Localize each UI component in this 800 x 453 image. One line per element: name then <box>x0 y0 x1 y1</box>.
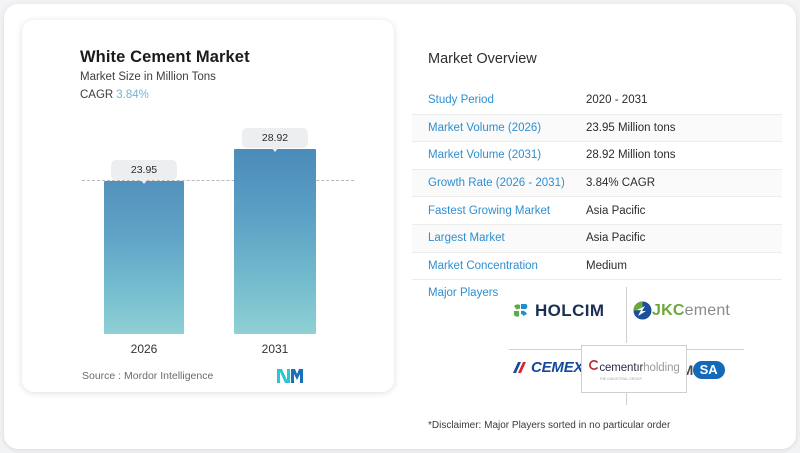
source-text: Source : Mordor Intelligence <box>82 370 213 382</box>
row-label: Growth Rate (2026 - 2031) <box>412 177 586 189</box>
row-label: Market Concentration <box>412 260 586 272</box>
grid-divider-horizontal-left <box>509 349 581 350</box>
grid-divider-vertical-top <box>626 287 627 343</box>
table-row: Market Volume (2031) 28.92 Million tons <box>412 142 782 170</box>
table-row: Fastest Growing Market Asia Pacific <box>412 197 782 225</box>
cementir-holding-logo: cementırholding THE INDUSTRIAL GROUP <box>581 345 687 393</box>
row-label: Largest Market <box>412 232 586 244</box>
cementir-wordmark-part2: holding <box>643 362 679 374</box>
table-row: Market Volume (2026) 23.95 Million tons <box>412 115 782 143</box>
cemex-mark-icon <box>511 361 529 374</box>
row-label: Market Volume (2026) <box>412 122 586 134</box>
row-label: Fastest Growing Market <box>412 205 586 217</box>
players-disclaimer: *Disclaimer: Major Players sorted in no … <box>428 420 670 431</box>
bar-chart-plot: 23.95 28.92 2026 2031 <box>22 20 394 392</box>
holcim-logo: HOLCIM <box>511 301 604 321</box>
mordor-intelligence-logo <box>277 368 303 389</box>
cementir-inner: cementırholding THE INDUSTRIAL GROUP <box>588 358 679 381</box>
table-row: Study Period 2020 - 2031 <box>412 87 782 115</box>
holcim-wordmark: HOLCIM <box>535 301 604 321</box>
cemex-wordmark: CEMEX <box>531 359 583 376</box>
row-label: Study Period <box>412 94 586 106</box>
cementir-subtitle: THE INDUSTRIAL GROUP <box>599 377 679 381</box>
market-overview-heading: Market Overview <box>428 51 537 67</box>
table-row: Growth Rate (2026 - 2031) 3.84% CAGR <box>412 170 782 198</box>
jk-cement-wordmark-part2: ement <box>685 302 730 320</box>
market-overview-table: Study Period 2020 - 2031 Market Volume (… <box>412 87 782 280</box>
row-label: Market Volume (2031) <box>412 149 586 161</box>
table-row: Largest Market Asia Pacific <box>412 225 782 253</box>
row-value: 28.92 Million tons <box>586 149 676 161</box>
jk-cement-wordmark-part1: JKC <box>652 302 685 320</box>
bar-2026 <box>104 181 184 334</box>
bar-value-label-2031: 28.92 <box>242 128 308 148</box>
row-value: 23.95 Million tons <box>586 122 676 134</box>
x-axis-label-2026: 2026 <box>94 342 194 356</box>
main-card: White Cement Market Market Size in Milli… <box>4 4 796 449</box>
row-value: Asia Pacific <box>586 205 645 217</box>
cimsa-wordmark-part2: SA <box>693 361 725 379</box>
holcim-mark-icon <box>511 301 531 321</box>
row-value: Medium <box>586 260 627 272</box>
row-value: 2020 - 2031 <box>586 94 647 106</box>
row-value: Asia Pacific <box>586 232 645 244</box>
cemex-logo: CEMEX <box>511 359 583 376</box>
row-value: 3.84% CAGR <box>586 177 655 189</box>
major-players-label: Major Players <box>428 287 498 299</box>
bar-2031 <box>234 149 316 334</box>
jk-cement-logo: JKCement <box>633 301 730 320</box>
cementir-wordmark-part1: cementır <box>599 362 643 374</box>
jk-cement-mark-icon <box>633 301 652 320</box>
chart-card: White Cement Market Market Size in Milli… <box>22 20 394 392</box>
table-row: Market Concentration Medium <box>412 253 782 281</box>
bar-value-label-2026: 23.95 <box>111 160 177 180</box>
cementir-mark-icon <box>588 359 599 372</box>
x-axis-label-2031: 2031 <box>225 342 325 356</box>
